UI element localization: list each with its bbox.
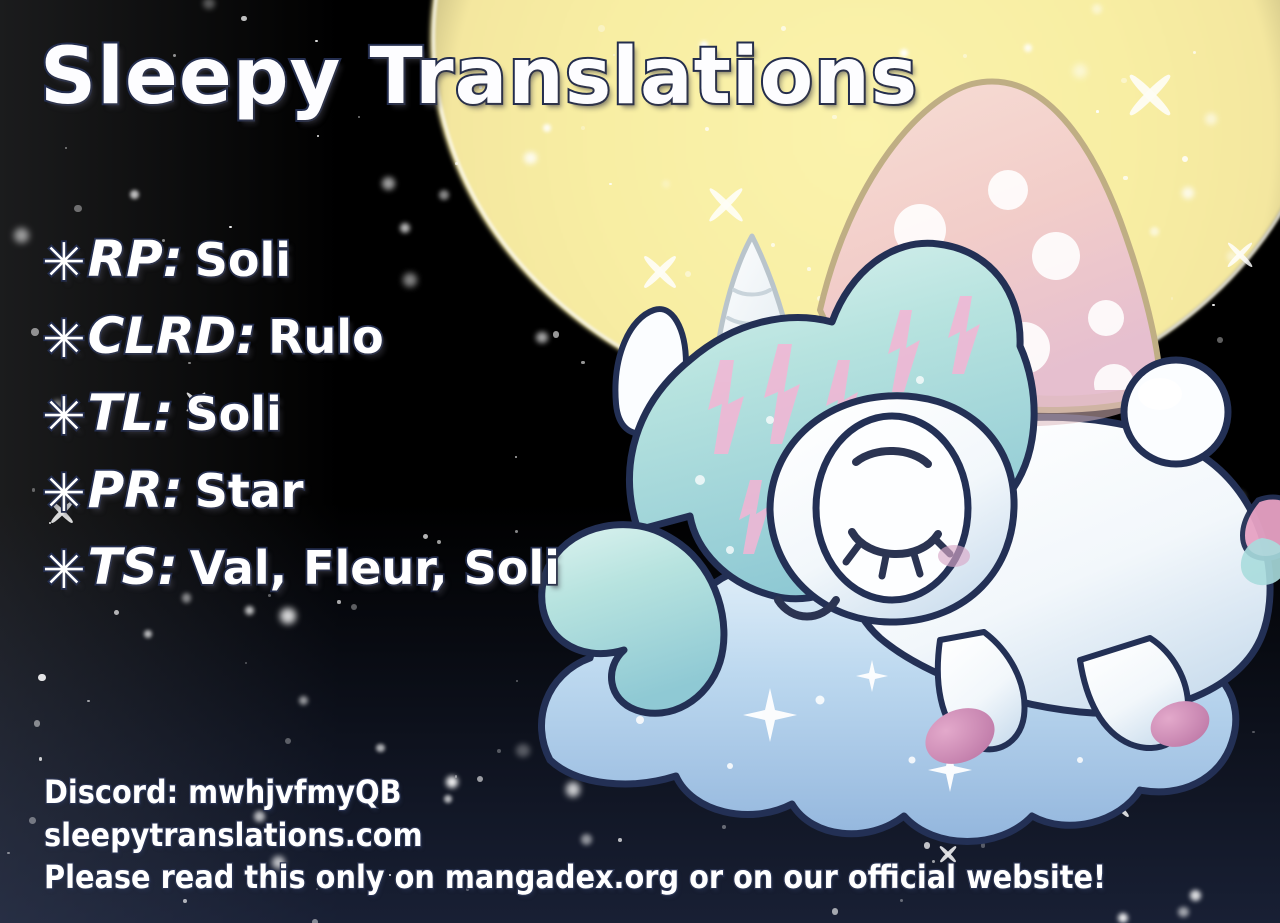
star-dot [183,899,187,903]
star-dot [87,700,89,702]
credit-role-rp: RP: [88,234,183,284]
star-dot [598,25,605,32]
credit-names-pr: Star [195,468,304,514]
credit-role-tl: TL: [88,388,174,438]
footer-info: Discord: mwhjvfmyQB sleepytranslations.c… [44,775,1106,895]
star-dot [1092,4,1102,14]
star-dot [38,674,45,681]
credits-page: Sleepy Translations ✳ RP: Soli ✳ CLRD: R… [0,0,1280,923]
star-dot [376,744,385,753]
asterisk-icon: ✳ [42,545,86,597]
credit-role-pr: PR: [88,465,183,515]
credit-row-rp: ✳ RP: Soli [42,233,560,285]
asterisk-icon: ✳ [42,391,86,443]
star-dot [34,720,41,727]
read-notice: Please read this only on mangadex.org or… [44,860,1106,895]
star-dot [382,177,395,190]
star-dot [7,852,10,855]
star-dot [280,608,295,623]
credit-names-rp: Soli [195,237,291,283]
star-dot [32,488,35,491]
star-dot [400,223,410,233]
star-dot [337,600,341,604]
website-url: sleepytranslations.com [44,818,1106,853]
star-dot [114,610,119,615]
star-dot [312,919,318,923]
star-dot [497,749,501,753]
credit-row-clrd: ✳ CLRD: Rulo [42,310,560,362]
credit-row-ts: ✳ TS: Val, Fleur, Soli [42,541,560,593]
star-dot [29,817,36,824]
star-dot [439,190,448,199]
credit-role-clrd: CLRD: [88,311,257,361]
page-title: Sleepy Translations [40,38,918,116]
credit-names-ts: Val, Fleur, Soli [190,545,560,591]
star-dot [144,630,153,639]
eye-area [816,416,968,600]
star-dot [1024,44,1033,53]
pom-pom [1124,360,1228,464]
star-dot [39,757,42,760]
head [770,396,1014,622]
star-dot [963,54,967,58]
star-dot [351,604,357,610]
blush [938,545,970,567]
credit-names-clrd: Rulo [268,314,384,360]
star-dot [130,190,139,199]
star-dot [516,680,518,682]
star-dot [285,738,291,744]
asterisk-icon: ✳ [42,314,86,366]
star-dot [317,135,319,137]
credit-role-ts: TS: [88,542,178,592]
star-dot [241,16,246,21]
credit-row-tl: ✳ TL: Soli [42,387,560,439]
star-dot [74,205,81,212]
asterisk-icon: ✳ [42,237,86,289]
star-dot [14,228,29,243]
asterisk-icon: ✳ [42,468,86,520]
star-dot [245,606,254,615]
discord-invite: Discord: mwhjvfmyQB [44,775,1106,810]
star-dot [229,226,231,228]
credits-list: ✳ RP: Soli ✳ CLRD: Rulo ✳ TL: Soli ✳ PR:… [42,233,560,593]
star-dot [65,147,67,149]
star-dot [31,328,38,335]
star-dot [203,0,215,9]
credit-names-tl: Soli [186,391,282,437]
credit-row-pr: ✳ PR: Star [42,464,560,516]
star-dot [1193,51,1196,54]
star-dot [245,662,247,664]
star-dot [781,26,786,31]
star-dot [455,162,458,165]
star-dot [299,696,308,705]
